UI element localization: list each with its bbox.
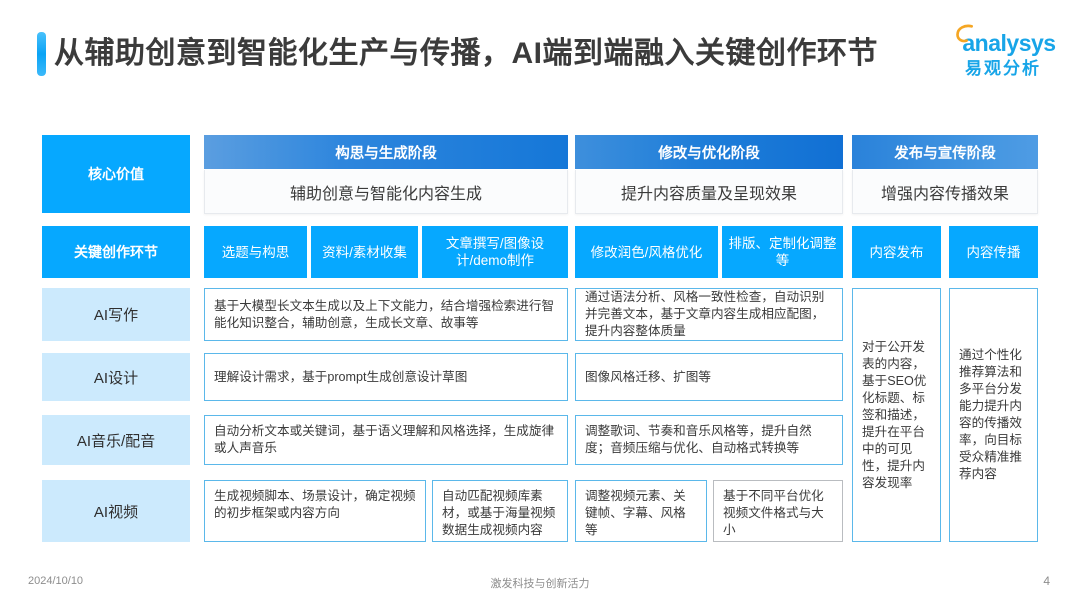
row-label-ai-design: AI设计 (42, 353, 190, 401)
note-writing-create: 基于大模型长文本生成以及上下文能力，结合增强检索进行智能化知识整合，辅助创意，生… (204, 288, 568, 341)
step-chip-polish-style: 修改润色/风格优化 (575, 226, 718, 278)
row-label-ai-music: AI音乐/配音 (42, 415, 190, 465)
note-music-create: 自动分析文本或关键词，基于语义理解和风格选择，生成旋律或人声音乐 (204, 415, 568, 465)
note-video-create-b: 自动匹配视频库素材，或基于海量视频数据生成视频内容 (432, 480, 568, 542)
note-video-optimize-a: 调整视频元素、关键帧、字幕、风格等 (575, 480, 707, 542)
note-design-create: 理解设计需求，基于prompt生成创意设计草图 (204, 353, 568, 401)
note-publish: 对于公开发表的内容，基于SEO优化标题、标签和描述，提升在平台中的可见性，提升内… (852, 288, 941, 542)
row-label-ai-video: AI视频 (42, 480, 190, 542)
phase-value-optimization: 提升内容质量及呈现效果 (575, 170, 843, 214)
header-key-steps: 关键创作环节 (42, 226, 190, 278)
header-core-value: 核心价值 (42, 135, 190, 213)
footer-slogan: 激发科技与创新活力 (0, 575, 1080, 591)
step-chip-layout-custom: 排版、定制化调整等 (722, 226, 843, 278)
capability-matrix: 核心价值 关键创作环节 AI写作 AI设计 AI音乐/配音 AI视频 构思与生成… (0, 0, 1080, 608)
phase-header-optimization: 修改与优化阶段 (575, 135, 843, 169)
note-writing-optimize: 通过语法分析、风格一致性检查，自动识别并完善文本，基于文章内容生成相应配图，提升… (575, 288, 843, 341)
phase-header-publishing: 发布与宣传阶段 (852, 135, 1038, 169)
phase-header-ideation: 构思与生成阶段 (204, 135, 568, 169)
note-music-optimize: 调整歌词、节奏和音乐风格等，提升自然度；音频压缩与优化、自动格式转换等 (575, 415, 843, 465)
note-video-create-a: 生成视频脚本、场景设计，确定视频的初步框架或内容方向 (204, 480, 426, 542)
note-spread: 通过个性化推荐算法和多平台分发能力提升内容的传播效率，向目标受众精准推荐内容 (949, 288, 1038, 542)
step-chip-content-spread: 内容传播 (949, 226, 1038, 278)
note-video-optimize-b: 基于不同平台优化视频文件格式与大小 (713, 480, 843, 542)
footer-page-number: 4 (1043, 574, 1050, 588)
step-chip-content-publish: 内容发布 (852, 226, 941, 278)
step-chip-material-collection: 资料/素材收集 (311, 226, 418, 278)
phase-value-ideation: 辅助创意与智能化内容生成 (204, 170, 568, 214)
row-label-ai-writing: AI写作 (42, 288, 190, 341)
note-design-optimize: 图像风格迁移、扩图等 (575, 353, 843, 401)
step-chip-topic-ideation: 选题与构思 (204, 226, 307, 278)
step-chip-writing-design-demo: 文章撰写/图像设计/demo制作 (422, 226, 568, 278)
phase-value-publishing: 增强内容传播效果 (852, 170, 1038, 214)
